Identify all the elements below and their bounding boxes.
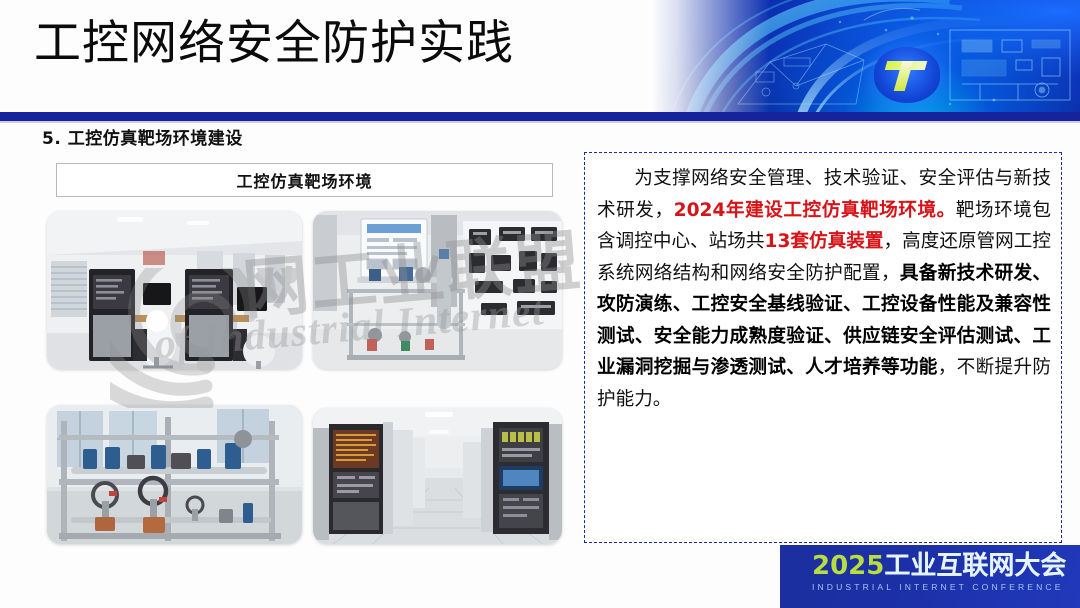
photo-grid (47, 211, 562, 544)
conference-logo-main: 2025工业互联网大会 (812, 551, 1070, 581)
instrumentation-lab-photo-illustration (313, 211, 562, 369)
valve-pipe-rig-photo-illustration (47, 405, 302, 544)
photo-group-caption-box: 工控仿真靶场环境 (56, 163, 553, 197)
photo-cabinet-corridor (313, 408, 562, 544)
control-center-photo-illustration (47, 211, 302, 369)
photo-instrumentation-lab (313, 211, 562, 369)
photo-valve-pipe-rig (47, 405, 302, 544)
slide-root: 工控网络安全防护实践 5. 工控仿真靶场环境建设 工控仿真靶场环境 (0, 0, 1080, 608)
photo-group-caption-text: 工控仿真靶场环境 (236, 168, 372, 192)
banner-it-logo-icon (874, 47, 940, 103)
cabinet-corridor-photo-illustration (313, 408, 562, 544)
conference-name-cn: 工业互联网大会 (884, 551, 1066, 581)
conference-logo: 2025工业互联网大会 INDUSTRIAL INTERNET CONFEREN… (812, 551, 1070, 599)
photo-control-center-servers (47, 211, 302, 369)
description-text-box: 为支撑网络安全管理、技术验证、安全评估与新技术研发，2024年建设工控仿真靶场环… (584, 152, 1062, 543)
conference-name-en: INDUSTRIAL INTERNET CONFERENCE (812, 582, 1070, 592)
header-tech-banner-graphic (650, 0, 1080, 114)
title-underline-rule (0, 112, 1080, 121)
conference-year: 2025 (812, 551, 884, 581)
banner-left-fade (650, 0, 770, 114)
section-heading: 5. 工控仿真靶场环境建设 (42, 124, 243, 149)
desc-highlight-2: 13套仿真装置 (765, 231, 884, 252)
slide-title: 工控网络安全防护实践 (34, 18, 514, 71)
desc-highlight-1: 2024年建设工控仿真靶场环境。 (674, 200, 956, 221)
description-paragraph: 为支撑网络安全管理、技术验证、安全评估与新技术研发，2024年建设工控仿真靶场环… (597, 163, 1051, 415)
